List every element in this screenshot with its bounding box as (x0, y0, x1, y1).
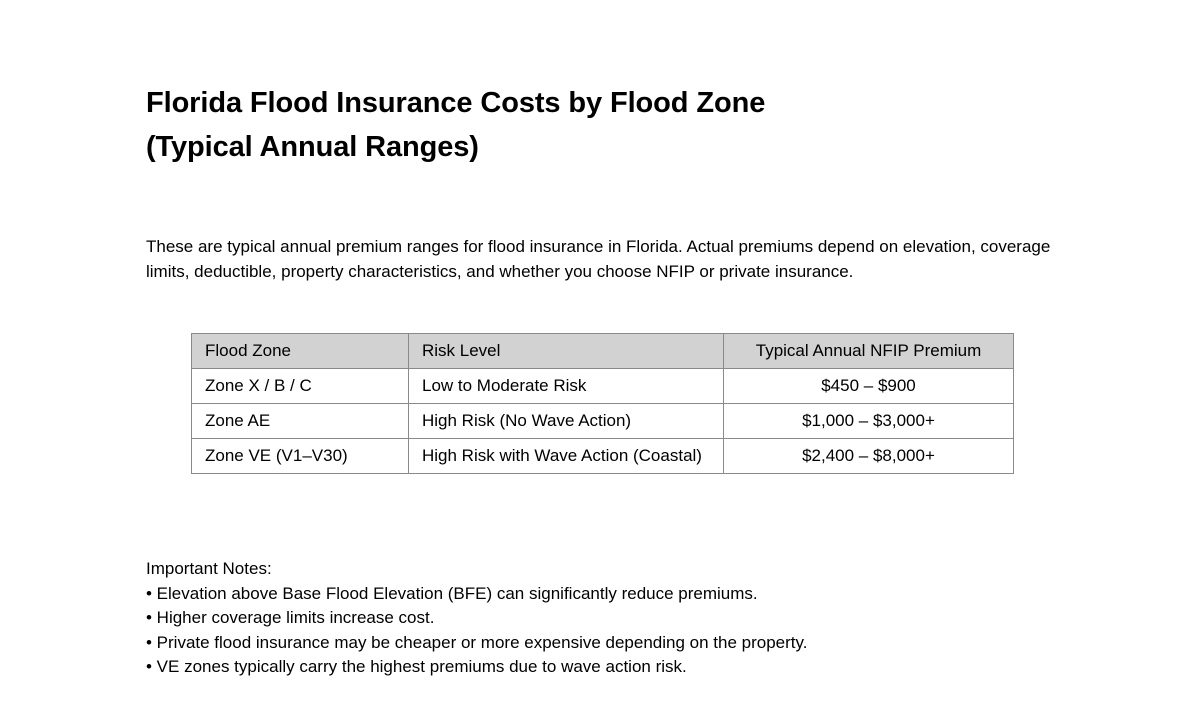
cell-premium: $450 – $900 (724, 369, 1014, 404)
page-title: Florida Flood Insurance Costs by Flood Z… (146, 81, 1046, 169)
document-page: Florida Flood Insurance Costs by Flood Z… (0, 0, 1204, 721)
table-header-row: Flood Zone Risk Level Typical Annual NFI… (192, 334, 1014, 369)
note-item: • Elevation above Base Flood Elevation (… (146, 582, 1046, 607)
note-item: • Private flood insurance may be cheaper… (146, 631, 1046, 656)
cell-risk-level-text: Low to Moderate Risk (422, 376, 586, 396)
column-header-risk-level: Risk Level (409, 334, 724, 369)
cell-flood-zone: Zone X / B / C (192, 369, 409, 404)
page-title-line-2: (Typical Annual Ranges) (146, 125, 1046, 169)
cell-flood-zone: Zone VE (V1–V30) (192, 439, 409, 474)
table-row: Zone AE High Risk (No Wave Action) $1,00… (192, 404, 1014, 439)
table-row: Zone VE (V1–V30) High Risk with Wave Act… (192, 439, 1014, 474)
cell-risk-level-text: High Risk (No Wave Action) (422, 411, 631, 431)
column-header-flood-zone: Flood Zone (192, 334, 409, 369)
table-row: Zone X / B / C Low to Moderate Risk $450… (192, 369, 1014, 404)
important-notes-section: Important Notes: • Elevation above Base … (146, 557, 1046, 680)
note-item: • VE zones typically carry the highest p… (146, 655, 1046, 680)
flood-zone-cost-table: Flood Zone Risk Level Typical Annual NFI… (191, 333, 1014, 474)
intro-paragraph: These are typical annual premium ranges … (146, 234, 1064, 284)
page-title-line-1: Florida Flood Insurance Costs by Flood Z… (146, 87, 765, 119)
cell-risk-level: High Risk with Wave Action (Coastal) (409, 439, 724, 474)
notes-heading: Important Notes: (146, 557, 1046, 582)
cell-risk-level-text: High Risk with Wave Action (Coastal) (422, 446, 702, 466)
cell-premium: $1,000 – $3,000+ (724, 404, 1014, 439)
column-header-typical-annual-nfip-premium: Typical Annual NFIP Premium (724, 334, 1014, 369)
cell-risk-level: High Risk (No Wave Action) (409, 404, 724, 439)
note-item: • Higher coverage limits increase cost. (146, 606, 1046, 631)
cell-risk-level: Low to Moderate Risk (409, 369, 724, 404)
flood-zone-cost-table-wrapper: Flood Zone Risk Level Typical Annual NFI… (191, 333, 1013, 474)
cell-flood-zone: Zone AE (192, 404, 409, 439)
cell-premium: $2,400 – $8,000+ (724, 439, 1014, 474)
